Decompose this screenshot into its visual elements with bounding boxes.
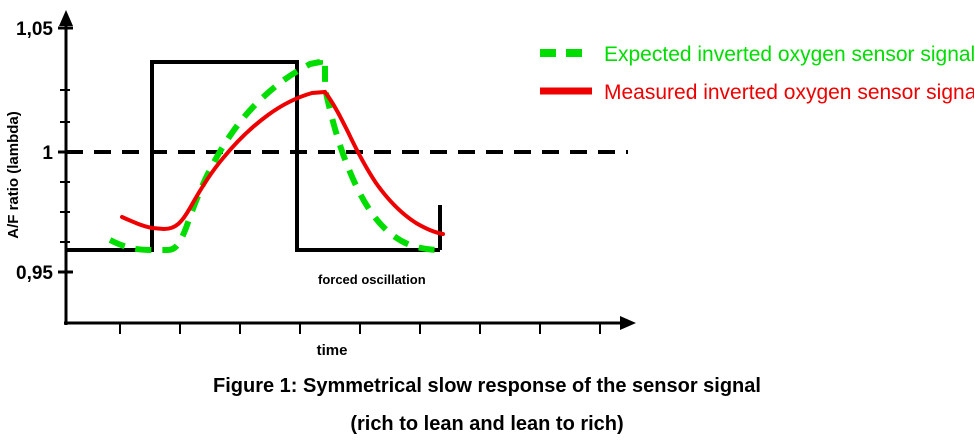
figure-caption-line-2: (rich to lean and lean to rich) [350,413,623,435]
figure-root: 1,05 1 0,95 A/F ratio (lambda) time forc… [0,0,974,445]
sensor-response-chart: 1,05 1 0,95 A/F ratio (lambda) time forc… [0,0,974,445]
x-axis-arrow-icon [620,316,636,330]
ytick-label-1: 1 [42,143,53,164]
legend-label-expected: Expected inverted oxygen sensor signal [604,43,974,66]
expected-signal-curve [110,60,440,250]
chart-legend: Expected inverted oxygen sensor signal M… [540,43,974,104]
forced-oscillation-square-wave [66,62,440,250]
y-axis-arrow-icon [59,10,73,26]
legend-label-measured: Measured inverted oxygen sensor signal [604,81,974,104]
x-axis-title: time [317,342,348,359]
forced-oscillation-label: forced oscillation [318,272,426,287]
ytick-label-105: 1,05 [16,19,53,40]
figure-caption-line-1: Figure 1: Symmetrical slow response of t… [213,375,761,397]
ytick-label-095: 0,95 [16,263,53,284]
y-axis-title: A/F ratio (lambda) [5,111,22,239]
measured-signal-curve [122,92,443,234]
